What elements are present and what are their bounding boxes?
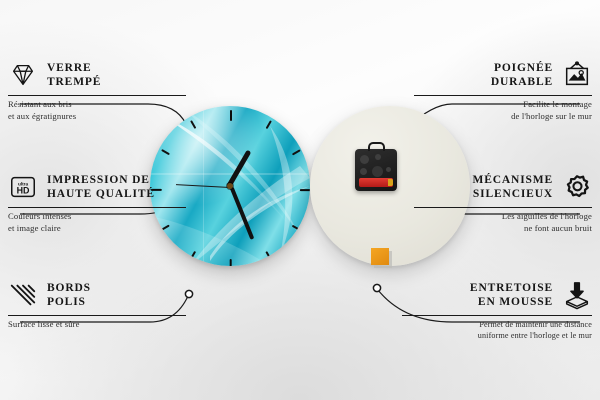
hanging-tab	[368, 142, 385, 151]
feature-subtitle: Permet de maintenir une distance uniform…	[402, 319, 592, 341]
battery-terminal	[388, 179, 393, 186]
feature-subtitle: Facilite le montage de l'horloge sur le …	[414, 99, 592, 123]
feature-poignee-durable: POIGNÉE DURABLE Facilite le montage de l…	[414, 58, 592, 123]
feature-rule	[8, 315, 186, 316]
mech-dot-d	[372, 166, 383, 177]
hanging-picture-frame-icon	[562, 60, 592, 90]
feature-title: VERRE TREMPÉ	[47, 61, 101, 89]
feature-verre-trempe: VERRE TREMPÉ Résistant aux bris et aux é…	[8, 58, 186, 123]
feature-title: POIGNÉE DURABLE	[491, 61, 553, 89]
foam-spacer-arrow-icon	[562, 280, 592, 310]
feature-subtitle: Les aiguilles de l'horloge ne font aucun…	[414, 211, 592, 235]
feature-rule	[414, 207, 592, 208]
mech-dot-e	[386, 167, 391, 172]
feature-mecanisme-silencieux: MÉCANISME SILENCIEUX Les aiguilles de l'…	[414, 170, 592, 235]
feature-subtitle: Couleurs intenses et image claire	[8, 211, 186, 235]
diagonal-lines-icon	[8, 280, 38, 310]
feature-rule	[8, 95, 186, 96]
feature-title: MÉCANISME SILENCIEUX	[473, 173, 554, 201]
diamond-icon	[8, 60, 38, 90]
ultra-hd-icon: ultra HD	[8, 172, 38, 202]
mech-dot-b	[375, 154, 381, 160]
quartz-movement	[355, 149, 397, 191]
feature-entretoise-en-mousse: ENTRETOISE EN MOUSSE Permet de maintenir…	[402, 278, 592, 341]
feature-bords-polis: BORDS POLIS Surface lisse et sûre	[8, 278, 186, 331]
feature-subtitle: Résistant aux bris et aux égratignures	[8, 99, 186, 123]
mech-dot-c	[360, 168, 367, 175]
feature-impression-haute-qualite: ultra HD IMPRESSION DE HAUTE QUALITÉ Cou…	[8, 170, 186, 235]
dot-entretoise	[373, 284, 380, 291]
feature-title: ENTRETOISE EN MOUSSE	[470, 281, 553, 309]
mech-dot-a	[360, 155, 369, 164]
hand-cap	[227, 183, 233, 189]
aa-battery	[359, 178, 393, 187]
foam-spacer	[371, 248, 389, 265]
svg-text:HD: HD	[17, 186, 30, 196]
feature-rule	[8, 207, 186, 208]
dot-bords-polis	[185, 290, 192, 297]
feature-title: IMPRESSION DE HAUTE QUALITÉ	[47, 173, 155, 201]
feature-title: BORDS POLIS	[47, 281, 91, 309]
infographic-stage: VERRE TREMPÉ Résistant aux bris et aux é…	[0, 0, 600, 400]
feature-rule	[402, 315, 592, 316]
feature-subtitle: Surface lisse et sûre	[8, 319, 186, 331]
gear-icon	[562, 172, 592, 202]
feature-rule	[414, 95, 592, 96]
